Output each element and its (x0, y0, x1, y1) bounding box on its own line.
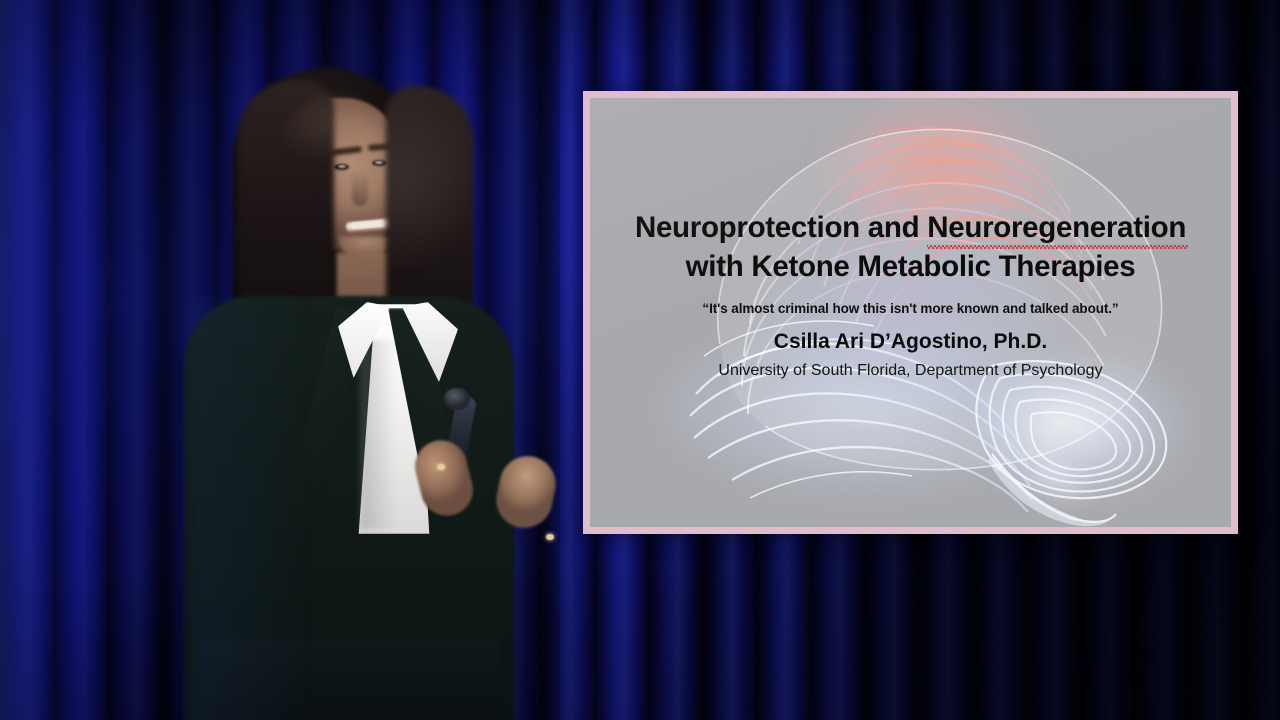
slide-text-block: Neuroprotection and Neuroregeneration wi… (590, 98, 1231, 527)
slide-title-line2: with Ketone Metabolic Therapies (686, 250, 1136, 283)
slide-title-misspelled-word: Neuroregeneration (927, 208, 1186, 247)
presenter-rim-light (190, 298, 310, 720)
presenter-key-light (260, 80, 500, 340)
microphone-head-icon (444, 388, 470, 410)
slide-title-line1-prefix: Neuroprotection and (635, 211, 927, 244)
presenter-ring-left (437, 464, 445, 470)
slide-author-name: Csilla Ari D’Agostino, Ph.D. (590, 330, 1231, 354)
presenter-ring-right (546, 534, 554, 540)
slide-title: Neuroprotection and Neuroregeneration wi… (590, 208, 1231, 286)
presenter-figure (110, 40, 530, 720)
slide-affiliation: University of South Florida, Department … (590, 362, 1231, 380)
slide-quote: “It's almost criminal how this isn't mor… (590, 301, 1231, 316)
presentation-stage-scene: Neuroprotection and Neuroregeneration wi… (0, 0, 1280, 720)
projected-slide: Neuroprotection and Neuroregeneration wi… (590, 98, 1231, 527)
